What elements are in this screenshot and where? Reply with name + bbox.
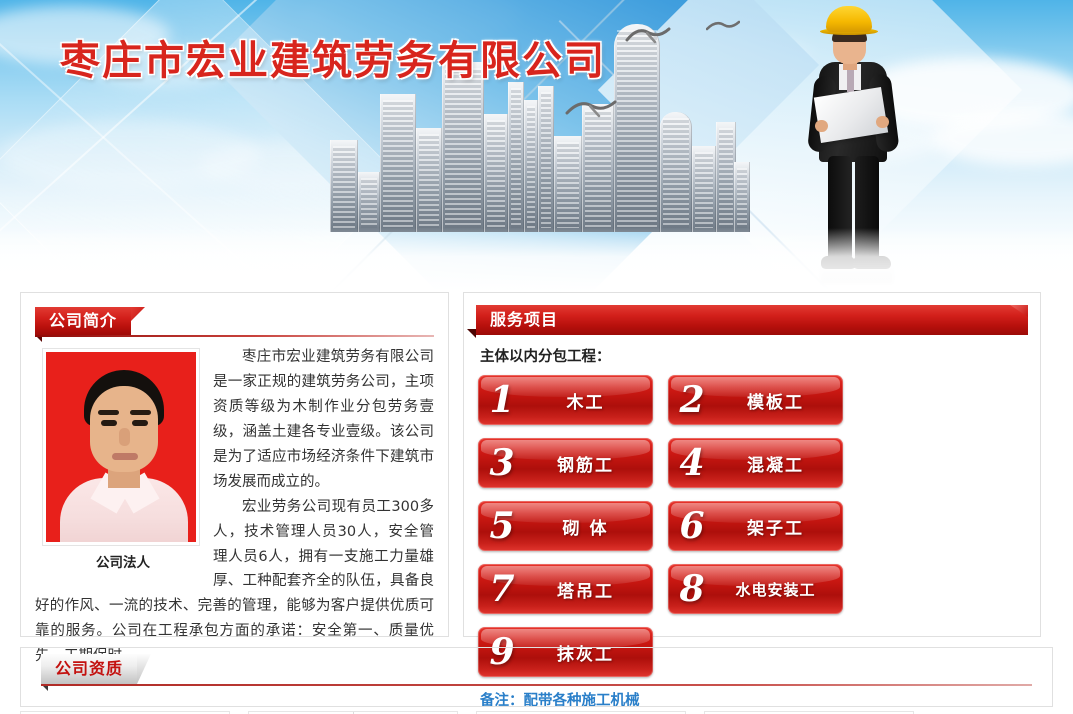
service-label: 塔吊工 [526, 577, 653, 602]
service-button-8[interactable]: 8 水电安装工 [668, 564, 843, 614]
service-subtitle: 主体以内分包工程： [480, 345, 1026, 366]
qualification-divider [41, 684, 1032, 686]
section-divider [35, 335, 434, 337]
service-label: 模板工 [716, 388, 843, 413]
service-number: 7 [478, 571, 526, 607]
company-intro-panel: 公司简介 [20, 292, 449, 637]
section-header-intro-label: 公司简介 [49, 311, 117, 330]
tab-notch [137, 654, 151, 684]
section-header-intro: 公司简介 [35, 307, 131, 335]
service-button-5[interactable]: 5 砌 体 [478, 501, 653, 551]
service-label: 钢筋工 [526, 451, 653, 476]
intro-body: 公司法人 枣庄市宏业建筑劳务有限公司是一家正规的建筑劳务公司，主项资质等级为木制… [21, 335, 448, 669]
legal-person-photo [43, 349, 199, 545]
service-button-2[interactable]: 2 模板工 [668, 375, 843, 425]
main-content: 公司简介 [0, 292, 1073, 714]
service-button-grid: 1 木工 2 模板工 3 钢筋工 4 混凝工 [478, 375, 1026, 677]
qualification-panel: 公司资质 [20, 647, 1053, 707]
service-items-panel: 服务项目 主体以内分包工程： 1 木工 2 模板工 [463, 292, 1041, 637]
site-banner: 枣庄市宏业建筑劳务有限公司 [0, 0, 1073, 292]
bar-corner [1010, 305, 1028, 317]
service-label: 木工 [526, 388, 653, 413]
tab-notch [131, 307, 145, 321]
service-button-1[interactable]: 1 木工 [478, 375, 653, 425]
section-header-service: 服务项目 [476, 305, 1028, 335]
service-button-4[interactable]: 4 混凝工 [668, 438, 843, 488]
service-number: 4 [668, 445, 716, 481]
top-row: 公司简介 [0, 292, 1073, 637]
service-button-3[interactable]: 3 钢筋工 [478, 438, 653, 488]
service-number: 6 [668, 508, 716, 544]
service-number: 3 [478, 445, 526, 481]
service-number: 5 [478, 508, 526, 544]
legal-person-photo-block: 公司法人 [43, 349, 203, 575]
service-label: 混凝工 [716, 451, 843, 476]
service-button-6[interactable]: 6 架子工 [668, 501, 843, 551]
page-title: 枣庄市宏业建筑劳务有限公司 [60, 28, 606, 86]
section-header-qualification: 公司资质 [41, 654, 137, 684]
service-label: 架子工 [716, 514, 843, 539]
page-root: 枣庄市宏业建筑劳务有限公司 公司简介 [0, 0, 1073, 714]
photo-caption: 公司法人 [43, 552, 203, 575]
service-number: 1 [478, 382, 526, 418]
service-label: 水电安装工 [716, 579, 843, 600]
section-header-service-label: 服务项目 [490, 310, 558, 329]
bar-fold [467, 329, 476, 338]
section-header-qualification-label: 公司资质 [55, 659, 123, 678]
service-label: 砌 体 [526, 514, 653, 539]
service-button-7[interactable]: 7 塔吊工 [478, 564, 653, 614]
service-number: 8 [668, 571, 716, 607]
banner-reflection [0, 228, 1073, 292]
service-number: 2 [668, 382, 716, 418]
